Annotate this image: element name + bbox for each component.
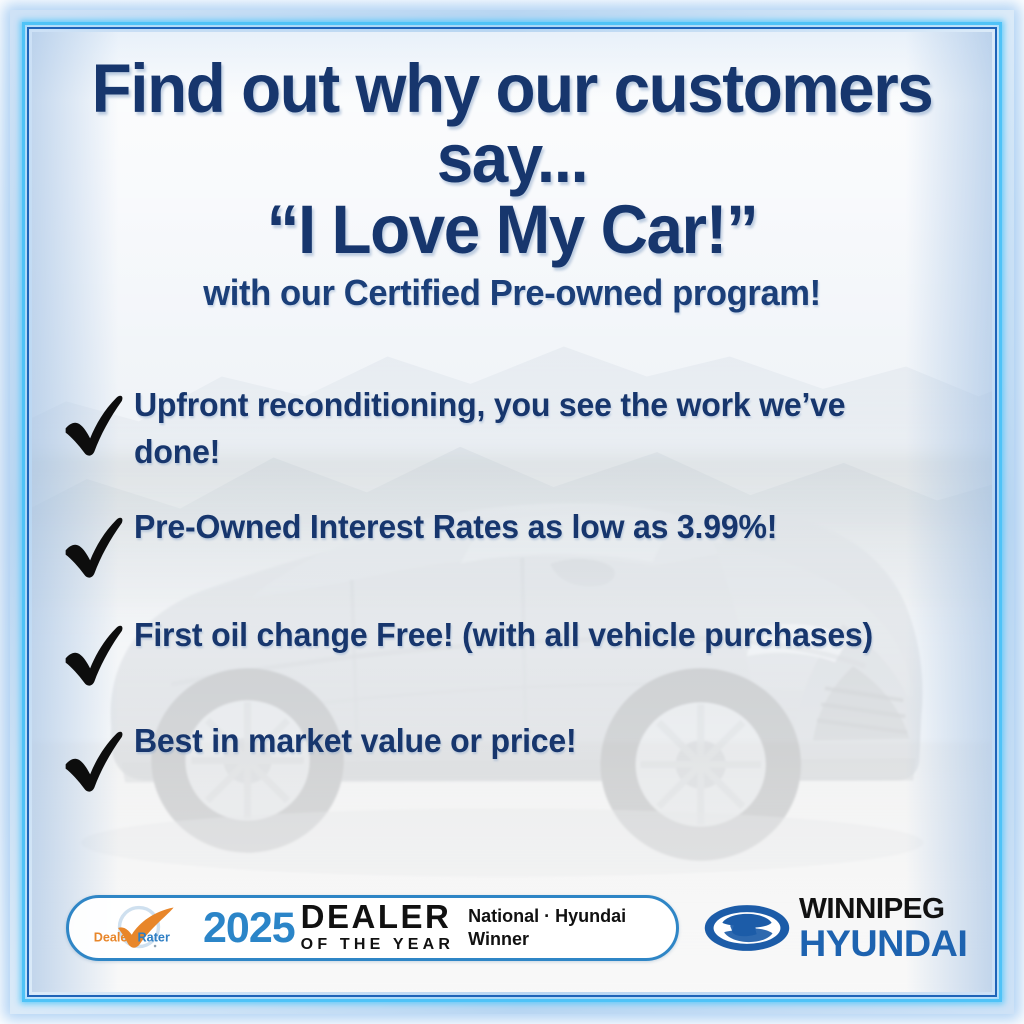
dealerrater-logo-icon: Dealer Rater [83, 903, 195, 953]
checkmark-icon [54, 618, 132, 690]
checkmark-icon [54, 510, 132, 582]
headline-line-2: say... [56, 124, 968, 194]
subheadline: with our Certified Pre-owned program! [51, 272, 973, 314]
list-item: Pre-Owned Interest Rates as low as 3.99%… [54, 502, 962, 582]
poster-content: Find out why our customers say... “I Lov… [32, 32, 992, 992]
award-title: DEALER OF THE YEAR [301, 900, 454, 956]
list-item-label: First oil change Free! (with all vehicle… [134, 610, 873, 659]
list-item: Upfront reconditioning, you see the work… [54, 380, 962, 476]
dealer-of-the-year-badge: Dealer Rater 2025 DEALER OF THE YEAR Nat… [66, 895, 679, 961]
list-item: Best in market value or price! [54, 716, 962, 796]
hyundai-oval-h-icon [703, 903, 791, 953]
dealer-brand: HYUNDAI [799, 925, 967, 962]
list-item-label: Best in market value or price! [134, 716, 577, 765]
checkmark-icon [54, 724, 132, 796]
winnipeg-hyundai-logo: WINNIPEG HYUNDAI [703, 895, 964, 962]
award-winner-text: National · Hyundai Winner [468, 905, 626, 951]
dealer-name: WINNIPEG HYUNDAI [799, 895, 964, 962]
award-dealer-text: DEALER [301, 900, 454, 933]
svg-text:Rater: Rater [138, 931, 170, 945]
headline-line-1: Find out why our customers [56, 54, 968, 124]
award-winner-line-2: Winner [468, 928, 626, 951]
award-year: 2025 [203, 907, 295, 950]
list-item: First oil change Free! (with all vehicle… [54, 610, 962, 690]
footer-logos: Dealer Rater 2025 DEALER OF THE YEAR Nat… [66, 890, 982, 966]
advertisement-poster: Find out why our customers say... “I Lov… [0, 0, 1024, 1024]
svg-text:Dealer: Dealer [94, 931, 133, 945]
checkmark-icon [54, 388, 132, 460]
poster-stage: Find out why our customers say... “I Lov… [32, 32, 992, 992]
dealer-city: WINNIPEG [799, 895, 967, 924]
list-item-label: Upfront reconditioning, you see the work… [134, 380, 937, 476]
award-of-the-year-text: OF THE YEAR [301, 935, 454, 956]
headline-line-3: “I Love My Car!” [56, 195, 968, 265]
award-winner-line-1: National · Hyundai [468, 905, 626, 928]
headline: Find out why our customers say... “I Lov… [56, 54, 968, 265]
list-item-label: Pre-Owned Interest Rates as low as 3.99%… [134, 502, 777, 551]
benefits-list: Upfront reconditioning, you see the work… [54, 380, 962, 818]
